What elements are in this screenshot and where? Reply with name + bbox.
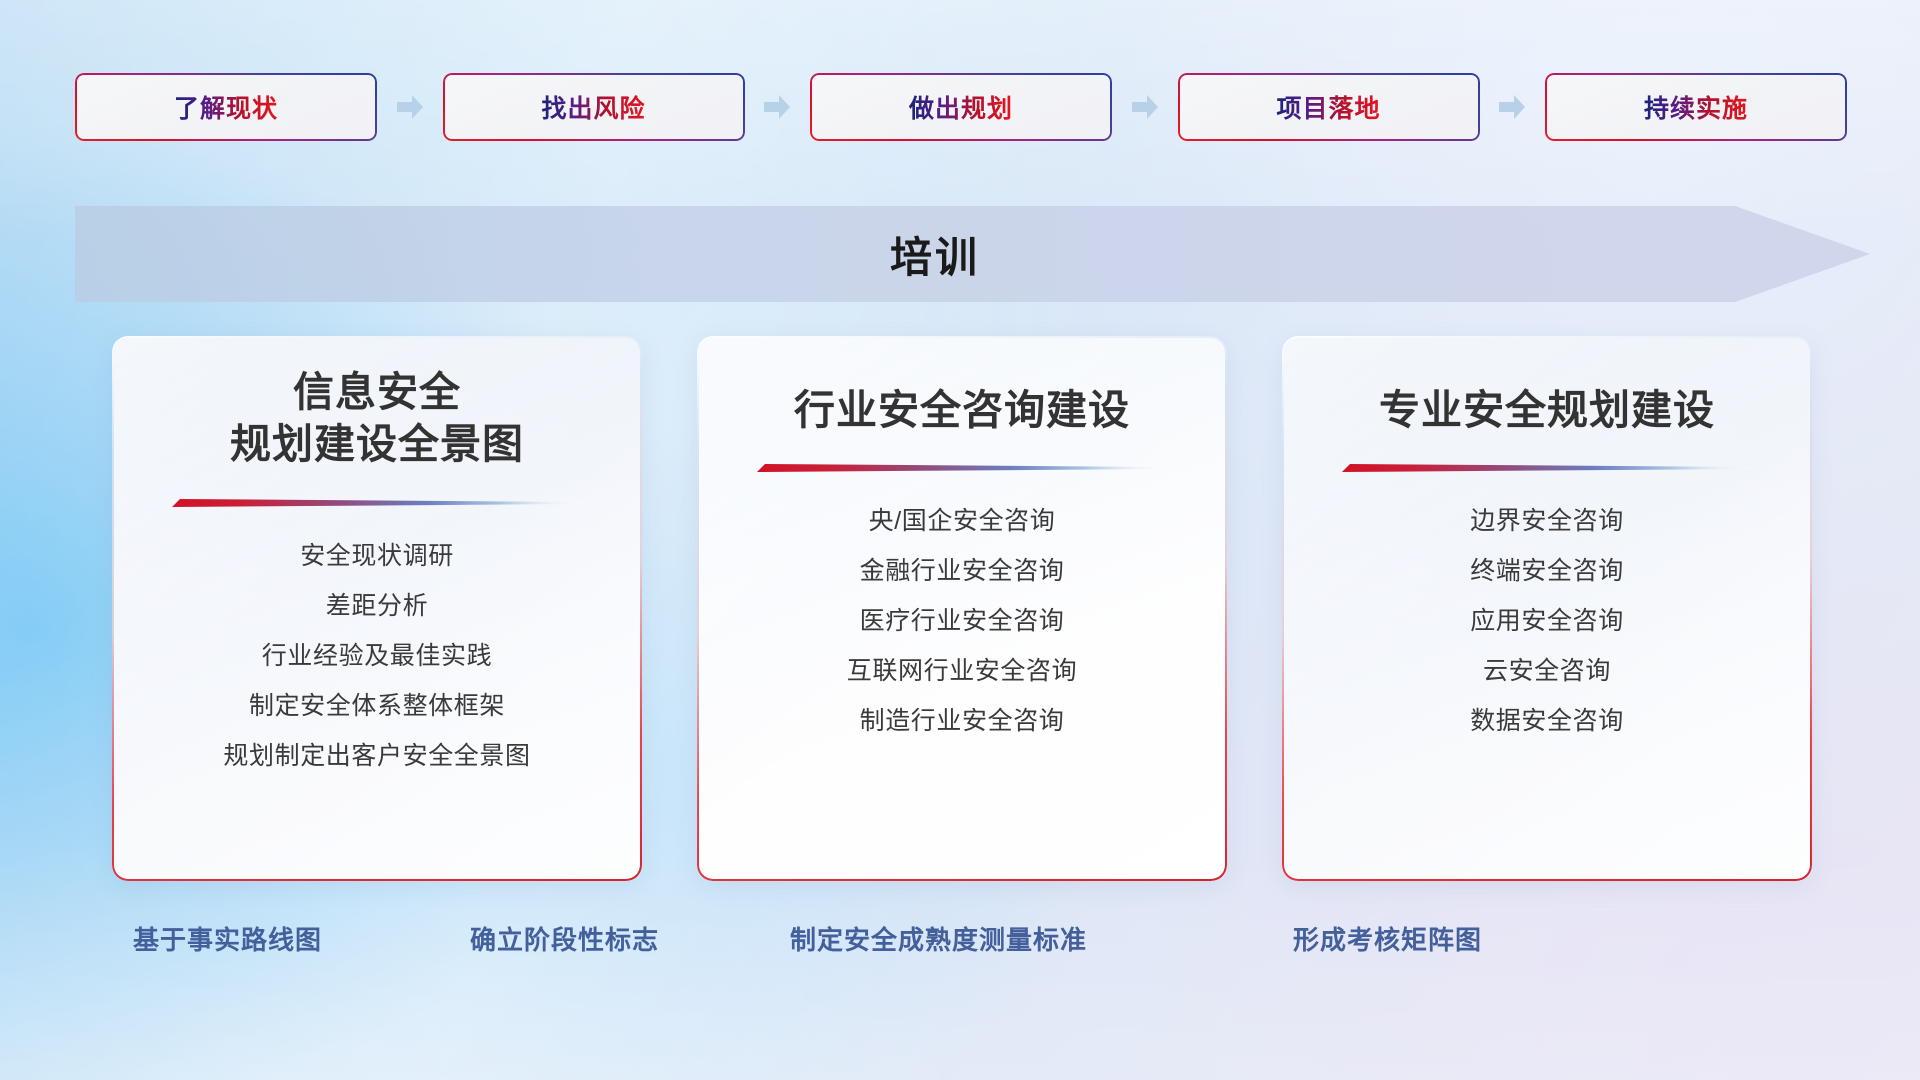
list-item: 差距分析 <box>326 585 428 627</box>
list-item: 制造行业安全咨询 <box>860 700 1065 742</box>
step-chip-label: 持续实施 <box>1644 89 1748 125</box>
card-industry-security-consulting[interactable]: 行业安全咨询建设 <box>697 336 1227 881</box>
process-step-row: 了解现状 找出风险 做出规划 项目落地 <box>75 72 1847 142</box>
card-title: 行业安全咨询建设 <box>794 384 1130 436</box>
footer-caption: 确立阶段性标志 <box>470 920 659 957</box>
step-chip-4[interactable]: 项目落地 <box>1178 73 1480 141</box>
footer-caption-row: 基于事实路线图 确立阶段性标志 制定安全成熟度测量标准 形成考核矩阵图 <box>0 920 1920 968</box>
list-item: 央/国企安全咨询 <box>869 500 1056 542</box>
list-item: 云安全咨询 <box>1483 650 1611 692</box>
training-banner: 培训 <box>75 206 1870 302</box>
step-chip-5[interactable]: 持续实施 <box>1545 73 1847 141</box>
list-item: 终端安全咨询 <box>1470 550 1624 592</box>
banner-title: 培训 <box>75 206 1795 302</box>
list-item: 边界安全咨询 <box>1470 500 1624 542</box>
footer-caption: 形成考核矩阵图 <box>1293 920 1482 957</box>
footer-caption: 制定安全成熟度测量标准 <box>790 920 1087 957</box>
card-body: 信息安全 规划建设全景图 <box>114 338 640 879</box>
list-item: 制定安全体系整体框架 <box>249 685 505 727</box>
card-divider <box>757 462 1167 474</box>
step-chip-label: 做出规划 <box>909 89 1013 125</box>
card-professional-security-planning[interactable]: 专业安全规划建设 <box>1282 336 1812 881</box>
step-chip-2[interactable]: 找出风险 <box>443 73 745 141</box>
list-item: 互联网行业安全咨询 <box>847 650 1077 692</box>
card-item-list: 安全现状调研 差距分析 行业经验及最佳实践 制定安全体系整体框架 规划制定出客户… <box>114 535 640 777</box>
list-item: 应用安全咨询 <box>1470 600 1624 642</box>
step-chip-label: 了解现状 <box>174 89 278 125</box>
list-item: 行业经验及最佳实践 <box>262 635 492 677</box>
card-divider <box>172 497 582 509</box>
card-body: 专业安全规划建设 <box>1284 338 1810 879</box>
list-item: 数据安全咨询 <box>1470 700 1624 742</box>
step-chip-label: 项目落地 <box>1276 89 1380 125</box>
list-item: 规划制定出客户安全全景图 <box>223 735 530 777</box>
step-chip-1[interactable]: 了解现状 <box>75 73 377 141</box>
card-divider <box>1342 462 1752 474</box>
card-item-list: 边界安全咨询 终端安全咨询 应用安全咨询 云安全咨询 数据安全咨询 <box>1284 500 1810 742</box>
card-item-list: 央/国企安全咨询 金融行业安全咨询 医疗行业安全咨询 互联网行业安全咨询 制造行… <box>699 500 1225 742</box>
card-title-line1: 专业安全规划建设 <box>1379 384 1715 436</box>
cards-row: 信息安全 规划建设全景图 <box>112 336 1812 881</box>
card-title: 专业安全规划建设 <box>1379 384 1715 436</box>
footer-caption: 基于事实路线图 <box>133 920 322 957</box>
arrow-right-icon <box>762 92 792 122</box>
slide-stage: 了解现状 找出风险 做出规划 项目落地 <box>0 0 1920 1080</box>
card-body: 行业安全咨询建设 <box>699 338 1225 879</box>
card-title-line1: 行业安全咨询建设 <box>794 384 1130 436</box>
card-title-line1: 信息安全 <box>230 366 524 418</box>
card-title: 信息安全 规划建设全景图 <box>230 366 524 471</box>
card-title-line2: 规划建设全景图 <box>230 418 524 470</box>
list-item: 医疗行业安全咨询 <box>860 600 1065 642</box>
step-chip-label: 找出风险 <box>541 89 645 125</box>
arrow-right-icon <box>1497 92 1527 122</box>
list-item: 金融行业安全咨询 <box>860 550 1065 592</box>
arrow-right-icon <box>395 92 425 122</box>
arrow-right-icon <box>1130 92 1160 122</box>
card-information-security[interactable]: 信息安全 规划建设全景图 <box>112 336 642 881</box>
step-chip-3[interactable]: 做出规划 <box>810 73 1112 141</box>
list-item: 安全现状调研 <box>300 535 454 577</box>
